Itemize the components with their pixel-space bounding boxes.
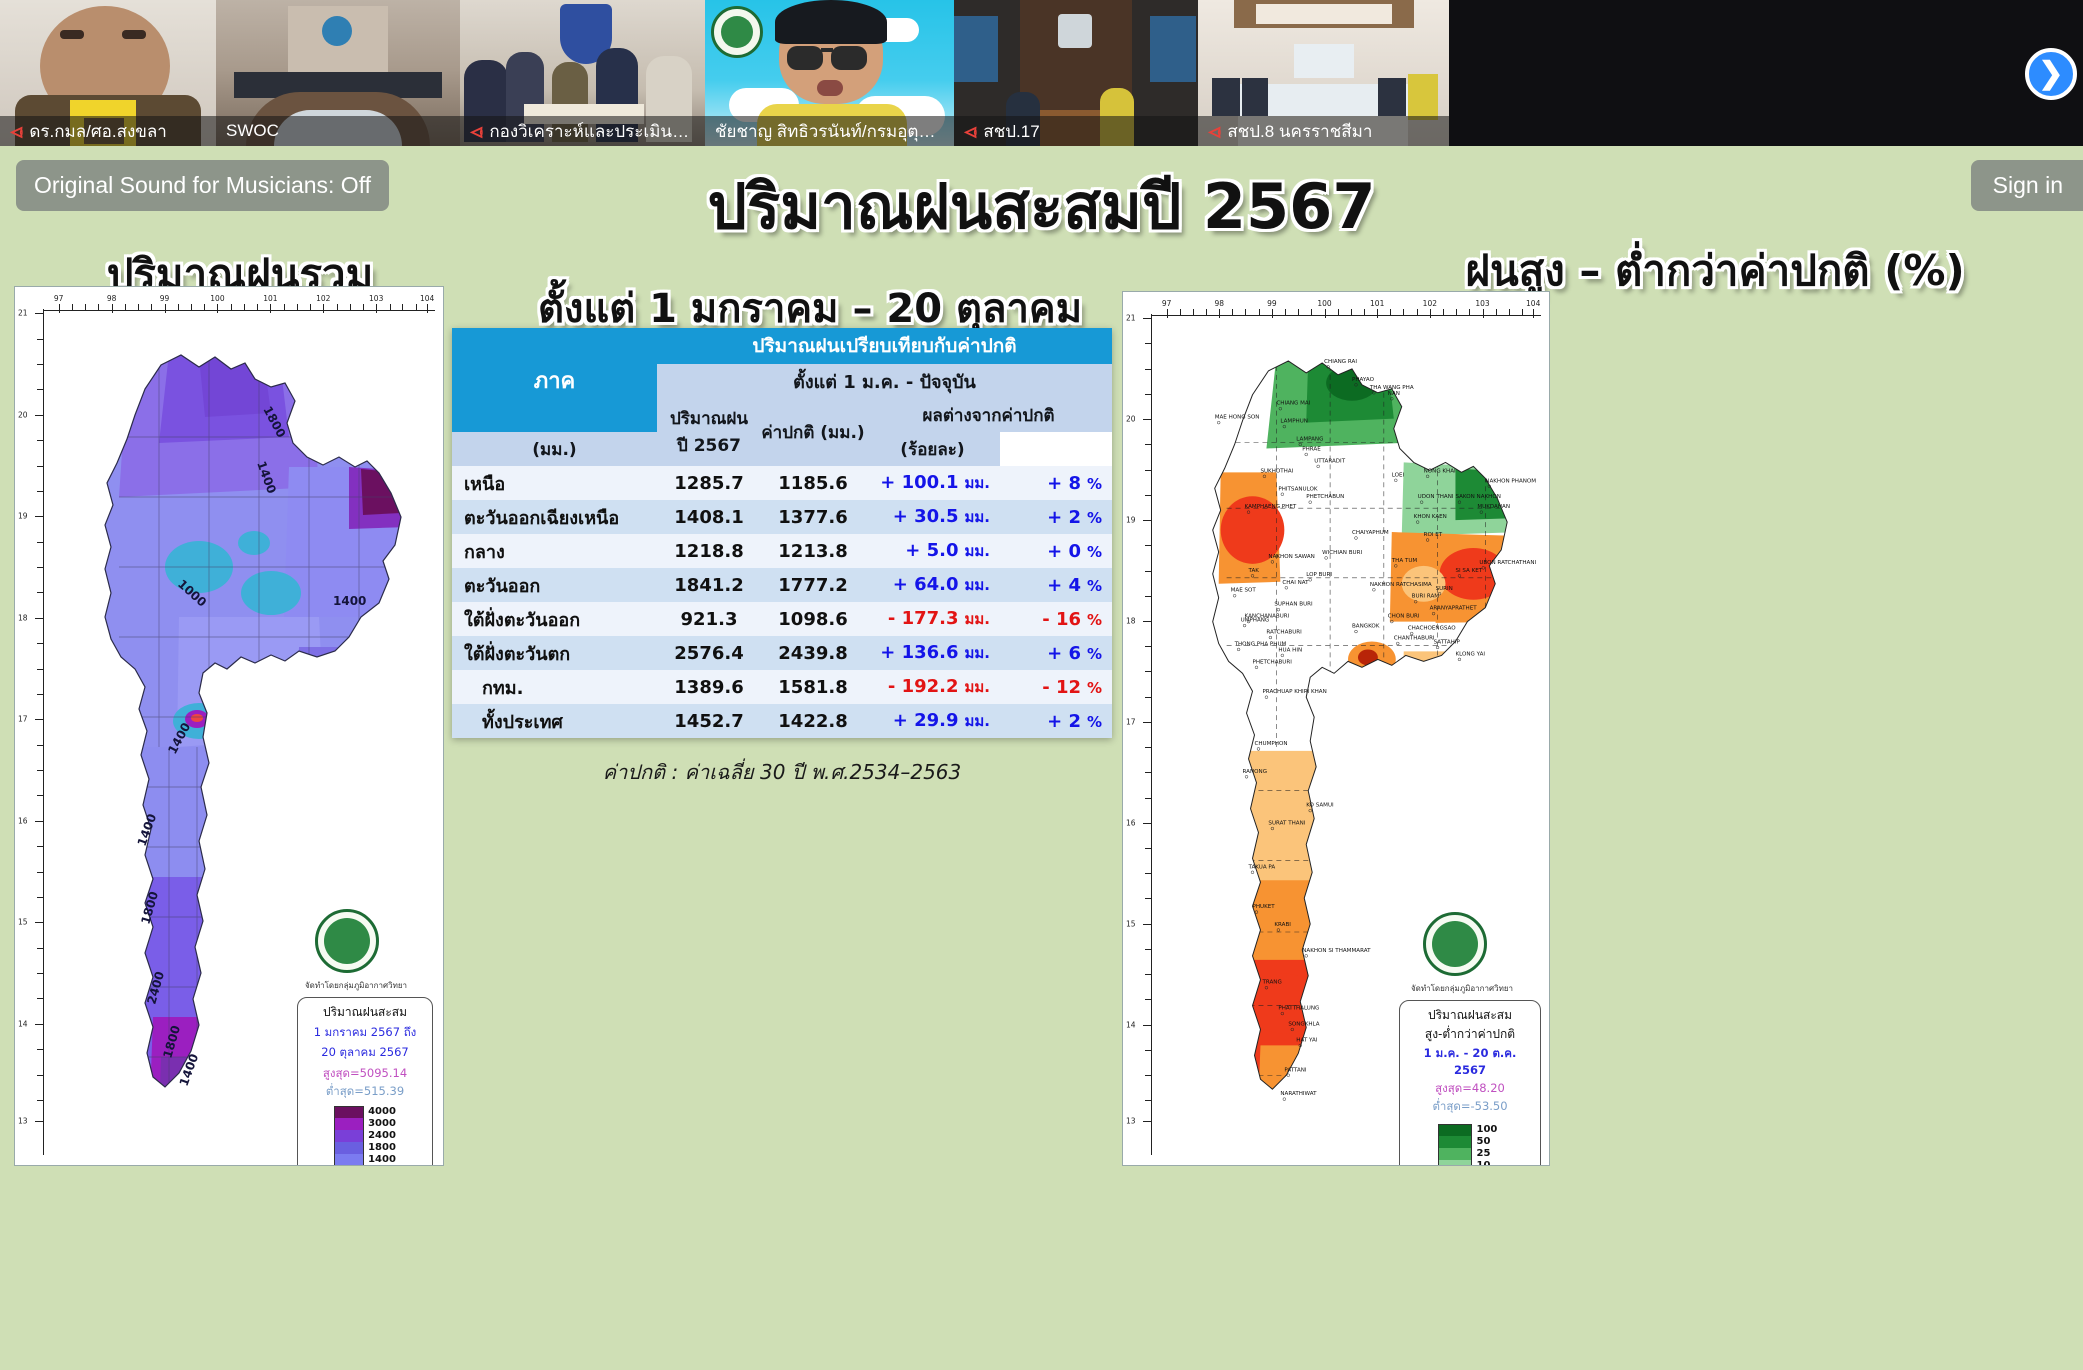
map-place-label: PRACHUAP KHIRI KHAN (1262, 689, 1326, 695)
map-place-label: HAT YAI (1296, 1037, 1317, 1043)
map-place-label: KRABI (1274, 922, 1291, 928)
map-place-label: KO SAMUI (1306, 803, 1334, 809)
cell-region: ตะวันออกเฉียงเหนือ (452, 500, 657, 534)
legend-colorbar: เปอร์เซ็นต์ 10050251050-5-10-25-50-100 (1406, 1124, 1534, 1166)
map-place-label: NAKHON SAWAN (1268, 554, 1314, 560)
cell-diff-mm: + 29.9มม. (865, 704, 1000, 738)
legend-tick-label: 10 (1476, 1160, 1501, 1166)
cell-diff-mm: - 192.2มม. (865, 670, 1000, 704)
map-place-label: TAK (1248, 568, 1260, 574)
participant-tile[interactable]: ⏿ กองวิเคราะห์และประเมินสถา... (460, 0, 705, 146)
cell-region: ทั้งประเทศ (452, 704, 657, 738)
legend-swatch (1438, 1160, 1472, 1166)
cell-region: กลาง (452, 534, 657, 568)
mic-muted-icon: ⏿ (1208, 122, 1221, 141)
cell-normal: 1185.6 (761, 466, 865, 500)
map-place-label: TRANG (1261, 980, 1281, 986)
cell-region: เหนือ (452, 466, 657, 500)
legend-min: ต่ำสุด=-53.50 (1406, 1098, 1534, 1116)
th-diff-mm: (มม.) (452, 432, 657, 466)
map-place-label: BURI RAM (1412, 594, 1440, 600)
legend-swatch (334, 1154, 364, 1166)
map-y-axis: 212019 181716 151413 (43, 309, 44, 1155)
map-place-label: CHUMPHON (1254, 741, 1287, 747)
map-station-marker (1245, 775, 1248, 778)
legend-swatch (1438, 1124, 1472, 1136)
map-place-label: SAKON NAKHON (1455, 494, 1500, 500)
rainfall-comparison-table: ภาค ปริมาณฝนเปรียบเทียบกับค่าปกติ ตั้งแต… (452, 328, 1112, 738)
legend-swatch (334, 1130, 364, 1142)
map-place-label: NAN (1388, 391, 1400, 397)
th-rain-2567: ปริมาณฝน ปี 2567 (657, 398, 761, 466)
next-page-button[interactable]: ❯ (2025, 48, 2077, 100)
table-footnote: ค่าปกติ : ค่าเฉลี่ย 30 ปี พ.ศ.2534–2563 (452, 756, 1112, 788)
map-place-label: CHIANG RAI (1324, 359, 1357, 365)
map-place-label: MUKDAHAN (1477, 504, 1510, 510)
map-place-label: SUKHOTHAI (1260, 468, 1293, 474)
mic-muted-icon: ⏿ (470, 122, 483, 141)
cell-region: กทม. (452, 670, 657, 704)
cell-diff-mm: + 5.0มม. (865, 534, 1000, 568)
map-place-label: NARATHIWAT (1280, 1091, 1317, 1097)
cell-diff-mm: + 64.0มม. (865, 568, 1000, 602)
legend-line3: 20 ตุลาคม 2567 (304, 1044, 426, 1062)
cell-rain-2567: 1218.8 (657, 534, 761, 568)
legend-swatch (334, 1106, 364, 1118)
map-place-label: NAKHON RATCHASIMA (1370, 582, 1432, 588)
legend-tick-label: 25 (1476, 1148, 1501, 1160)
map-station-marker (1217, 421, 1220, 424)
legend-tick-label: 1800 (368, 1142, 396, 1154)
cell-diff-mm: - 177.3มม. (865, 602, 1000, 636)
legend-tick-label: 4000 (368, 1106, 396, 1118)
legend-line3: 1 ม.ค. - 20 ต.ค. 2567 (1406, 1045, 1534, 1077)
map-place-label: RATCHABURI (1266, 630, 1302, 636)
map-station-marker (1287, 1074, 1290, 1077)
mic-muted-icon: ⏿ (964, 122, 977, 141)
th-group-sub: ตั้งแต่ 1 ม.ค. - ปัจจุบัน (657, 364, 1112, 398)
cell-diff-pct: + 6% (1000, 636, 1112, 670)
map-place-label: CHON BURI (1388, 614, 1420, 620)
map-place-label: PHETCHABUN (1306, 494, 1344, 500)
cell-rain-2567: 2576.4 (657, 636, 761, 670)
table-row: ตะวันออกเฉียงเหนือ1408.11377.6+ 30.5มม.+… (452, 500, 1112, 534)
map-place-label: THA WANG PHA (1369, 385, 1414, 391)
cell-diff-pct: + 4% (1000, 568, 1112, 602)
cell-normal: 1213.8 (761, 534, 865, 568)
map-place-label: MAE HONG SON (1215, 415, 1260, 421)
map-station-marker (1283, 1098, 1286, 1101)
map-place-label: KHON KAEN (1414, 514, 1447, 520)
map-place-label: CHACHOENGSAO (1408, 626, 1457, 632)
map-station-marker (1251, 871, 1254, 874)
shared-slide: Original Sound for Musicians: Off Sign i… (0, 146, 2083, 1370)
cell-rain-2567: 921.3 (657, 602, 761, 636)
map-place-label: UBON RATCHATHANI (1479, 560, 1536, 566)
map-place-label: RANONG (1243, 769, 1267, 775)
participant-name: สชป.17 (983, 118, 1039, 145)
map-place-label: SONGKHLA (1288, 1022, 1319, 1028)
legend-title: ปริมาณฝนสะสม (304, 1003, 426, 1022)
map-x-axis: 979899 100101102 103104 (1151, 300, 1541, 316)
participant-tile[interactable]: ⏿ สชป.8 นครราชสีมา (1198, 0, 1449, 146)
chevron-right-icon: ❯ (2038, 59, 2063, 89)
table-row: ใต้ฝั่งตะวันออก921.31098.6- 177.3มม.- 16… (452, 602, 1112, 636)
cell-diff-pct: + 2% (1000, 704, 1112, 738)
legend-swatch (1438, 1148, 1472, 1160)
map-place-label: UTTARADIT (1314, 458, 1346, 464)
map-place-label: CHANTHABURI (1394, 635, 1435, 641)
legend-tick-label: 3000 (368, 1118, 396, 1130)
table-row: ใต้ฝั่งตะวันตก2576.42439.8+ 136.6มม.+ 6% (452, 636, 1112, 670)
legend-tick-label: 50 (1476, 1136, 1501, 1148)
participant-tile[interactable]: ⏿ สชป.17 (954, 0, 1198, 146)
map-y-axis: 212019 181716 151413 (1151, 314, 1152, 1155)
map-place-label: PHITSANULOK (1278, 486, 1318, 492)
legend-line2: สูง-ต่ำกว่าค่าปกติ (1406, 1025, 1534, 1044)
map-credit: จัดทำโดยกลุ่มภูมิอากาศวิทยา (301, 979, 411, 992)
cell-rain-2567: 1408.1 (657, 500, 761, 534)
th-rain-line2: ปี 2567 (657, 432, 761, 459)
map-place-label: PHUKET (1253, 904, 1276, 910)
participant-tile-active[interactable]: ชัยชาญ สิทธิวรนันท์/กรมอุตุนิย... (705, 0, 954, 146)
table-row: เหนือ1285.71185.6+ 100.1มม.+ 8% (452, 466, 1112, 500)
legend-max: สูงสุด=48.20 (1406, 1080, 1534, 1098)
table-row: กทม.1389.61581.8- 192.2มม.- 12% (452, 670, 1112, 704)
map-place-label: PHAYAO (1352, 377, 1375, 383)
map-place-label: KLONG YAI (1455, 651, 1485, 657)
map-x-axis: 979899 100101102 103104 (43, 295, 435, 311)
video-filmstrip: ⏿ ดร.กมล/ศอ.สงขลา SWOC (0, 0, 2083, 146)
th-group-top: ปริมาณฝนเปรียบเทียบกับค่าปกติ (657, 328, 1112, 364)
legend-tick-label: 1400 (368, 1154, 396, 1166)
legend-line2: 1 มกราคม 2567 ถึง (304, 1024, 426, 1042)
map-place-label: SI SA KET (1455, 568, 1482, 574)
map-place-label: ARANYAPRATHET (1430, 606, 1478, 612)
map-place-label: SATTAHIP (1434, 639, 1461, 645)
map-place-label: CHIANG MAI (1276, 401, 1310, 407)
th-rain-line1: ปริมาณฝน (657, 405, 761, 432)
cell-diff-mm: + 136.6มม. (865, 636, 1000, 670)
map-place-label: LOP BURI (1306, 572, 1332, 578)
mic-muted-icon: ⏿ (10, 122, 23, 141)
map-place-label: UDON THANI (1418, 494, 1454, 500)
participant-name-bar: ชัยชาญ สิทธิวรนันท์/กรมอุตุนิย... (705, 116, 954, 146)
participant-name: ดร.กมล/ศอ.สงขลา (29, 118, 167, 145)
cell-rain-2567: 1285.7 (657, 466, 761, 500)
rainfall-total-map: 979899 100101102 103104 212019 181716 (14, 286, 444, 1166)
map-place-label: SURAT THANI (1268, 821, 1305, 827)
th-normal: ค่าปกติ (มม.) (761, 398, 865, 466)
th-diff-pct: (ร้อยละ) (865, 432, 1000, 466)
cell-diff-pct: + 2% (1000, 500, 1112, 534)
map-place-label: CHAIYAPHUM (1352, 530, 1389, 536)
map-place-label: LAMPANG (1296, 437, 1323, 443)
svg-text:1400: 1400 (333, 594, 366, 608)
map-place-label: ROI ET (1424, 532, 1443, 538)
cell-diff-pct: - 12% (1000, 670, 1112, 704)
table-row: ทั้งประเทศ1452.71422.8+ 29.9มม.+ 2% (452, 704, 1112, 738)
anomaly-legend: ปริมาณฝนสะสม สูง-ต่ำกว่าค่าปกติ 1 ม.ค. -… (1399, 1000, 1541, 1166)
map-place-label: UMPHANG (1241, 618, 1270, 624)
department-seal-icon (315, 909, 379, 973)
cell-rain-2567: 1389.6 (657, 670, 761, 704)
participant-name: กองวิเคราะห์และประเมินสถา... (489, 118, 695, 145)
department-seal-icon (1423, 912, 1487, 976)
map-place-label: SUPHAN BURI (1274, 602, 1313, 608)
cell-normal: 1777.2 (761, 568, 865, 602)
cell-diff-pct: - 16% (1000, 602, 1112, 636)
legend-min: ต่ำสุด=515.39 (304, 1083, 426, 1101)
cell-diff-mm: + 100.1มม. (865, 466, 1000, 500)
map-station-marker (1458, 658, 1461, 661)
cell-normal: 1377.6 (761, 500, 865, 534)
cell-rain-2567: 1452.7 (657, 704, 761, 738)
legend-swatch (334, 1142, 364, 1154)
map-place-label: PHETCHABURI (1253, 659, 1293, 665)
legend-swatch (334, 1118, 364, 1130)
legend-title: ปริมาณฝนสะสม (1406, 1006, 1534, 1025)
legend-swatch (1438, 1136, 1472, 1148)
map-station-marker (1305, 954, 1308, 957)
map-place-label: KAMPHAENG PHET (1245, 504, 1297, 510)
cell-diff-pct: + 8% (1000, 466, 1112, 500)
map-credit: จัดทำโดยกลุ่มภูมิอากาศวิทยา (1407, 982, 1517, 995)
th-region: ภาค (452, 328, 657, 432)
map-place-label: PHRAE (1302, 446, 1321, 452)
cell-region: ใต้ฝั่งตะวันออก (452, 602, 657, 636)
cell-region: ใต้ฝั่งตะวันตก (452, 636, 657, 670)
participant-name-bar: ⏿ สชป.17 (954, 116, 1198, 146)
map-place-label: WICHIAN BURI (1322, 550, 1362, 556)
map-place-label: CHAI NAT (1282, 580, 1309, 586)
map-place-label: LOEI (1392, 472, 1405, 478)
map-place-label: NAKHON SI THAMMARAT (1302, 948, 1371, 954)
participant-name-bar: ⏿ ดร.กมล/ศอ.สงขลา (0, 116, 216, 146)
cell-diff-mm: + 30.5มม. (865, 500, 1000, 534)
cell-normal: 1581.8 (761, 670, 865, 704)
map-place-label: SURIN (1436, 586, 1453, 592)
cell-normal: 1422.8 (761, 704, 865, 738)
legend-tick-label: 2400 (368, 1130, 396, 1142)
rainfall-anomaly-map: 979899 100101102 103104 212019 181716 (1122, 291, 1550, 1166)
map-place-label: BANGKOK (1352, 624, 1380, 630)
map-place-label: LAMPHUN (1280, 419, 1308, 425)
participant-tile[interactable]: ⏿ ดร.กมล/ศอ.สงขลา (0, 0, 216, 146)
cell-normal: 1098.6 (761, 602, 865, 636)
participant-name: SWOC (226, 121, 279, 141)
table-row: ตะวันออก1841.21777.2+ 64.0มม.+ 4% (452, 568, 1112, 602)
cell-diff-pct: + 0% (1000, 534, 1112, 568)
legend-max: สูงสุด=5095.14 (304, 1065, 426, 1083)
map-place-label: PATTANI (1284, 1067, 1307, 1073)
participant-name-bar: SWOC (216, 116, 460, 146)
cell-region: ตะวันออก (452, 568, 657, 602)
rainfall-legend: ปริมาณฝนสะสม 1 มกราคม 2567 ถึง 20 ตุลาคม… (297, 997, 433, 1166)
map-place-label: THA TUM (1391, 558, 1418, 564)
map-place-label: NAKHON PHANOM (1485, 478, 1536, 484)
map-place-label: TAKUA PA (1248, 864, 1276, 870)
map-place-label: HUA HIN (1278, 647, 1302, 653)
participant-name: สชป.8 นครราชสีมา (1227, 118, 1372, 145)
participant-name: ชัยชาญ สิทธิวรนันท์/กรมอุตุนิย... (715, 118, 944, 145)
participant-name-bar: ⏿ สชป.8 นครราชสีมา (1198, 116, 1449, 146)
legend-colorbar: มิลลิเมตร 400030002400180014001000800600… (304, 1106, 426, 1166)
participant-tile[interactable]: SWOC (216, 0, 460, 146)
map-place-label: MAE SOT (1231, 588, 1257, 594)
table-row: กลาง1218.81213.8+ 5.0มม.+ 0% (452, 534, 1112, 568)
cell-normal: 2439.8 (761, 636, 865, 670)
th-diff-group: ผลต่างจากค่าปกติ (865, 398, 1112, 432)
cell-rain-2567: 1841.2 (657, 568, 761, 602)
legend-tick-label: 100 (1476, 1124, 1501, 1136)
map-place-label: NONG KHAI (1424, 468, 1456, 474)
map-place-label: PHATTHALUNG (1278, 1006, 1319, 1012)
participant-name-bar: ⏿ กองวิเคราะห์และประเมินสถา... (460, 116, 705, 146)
